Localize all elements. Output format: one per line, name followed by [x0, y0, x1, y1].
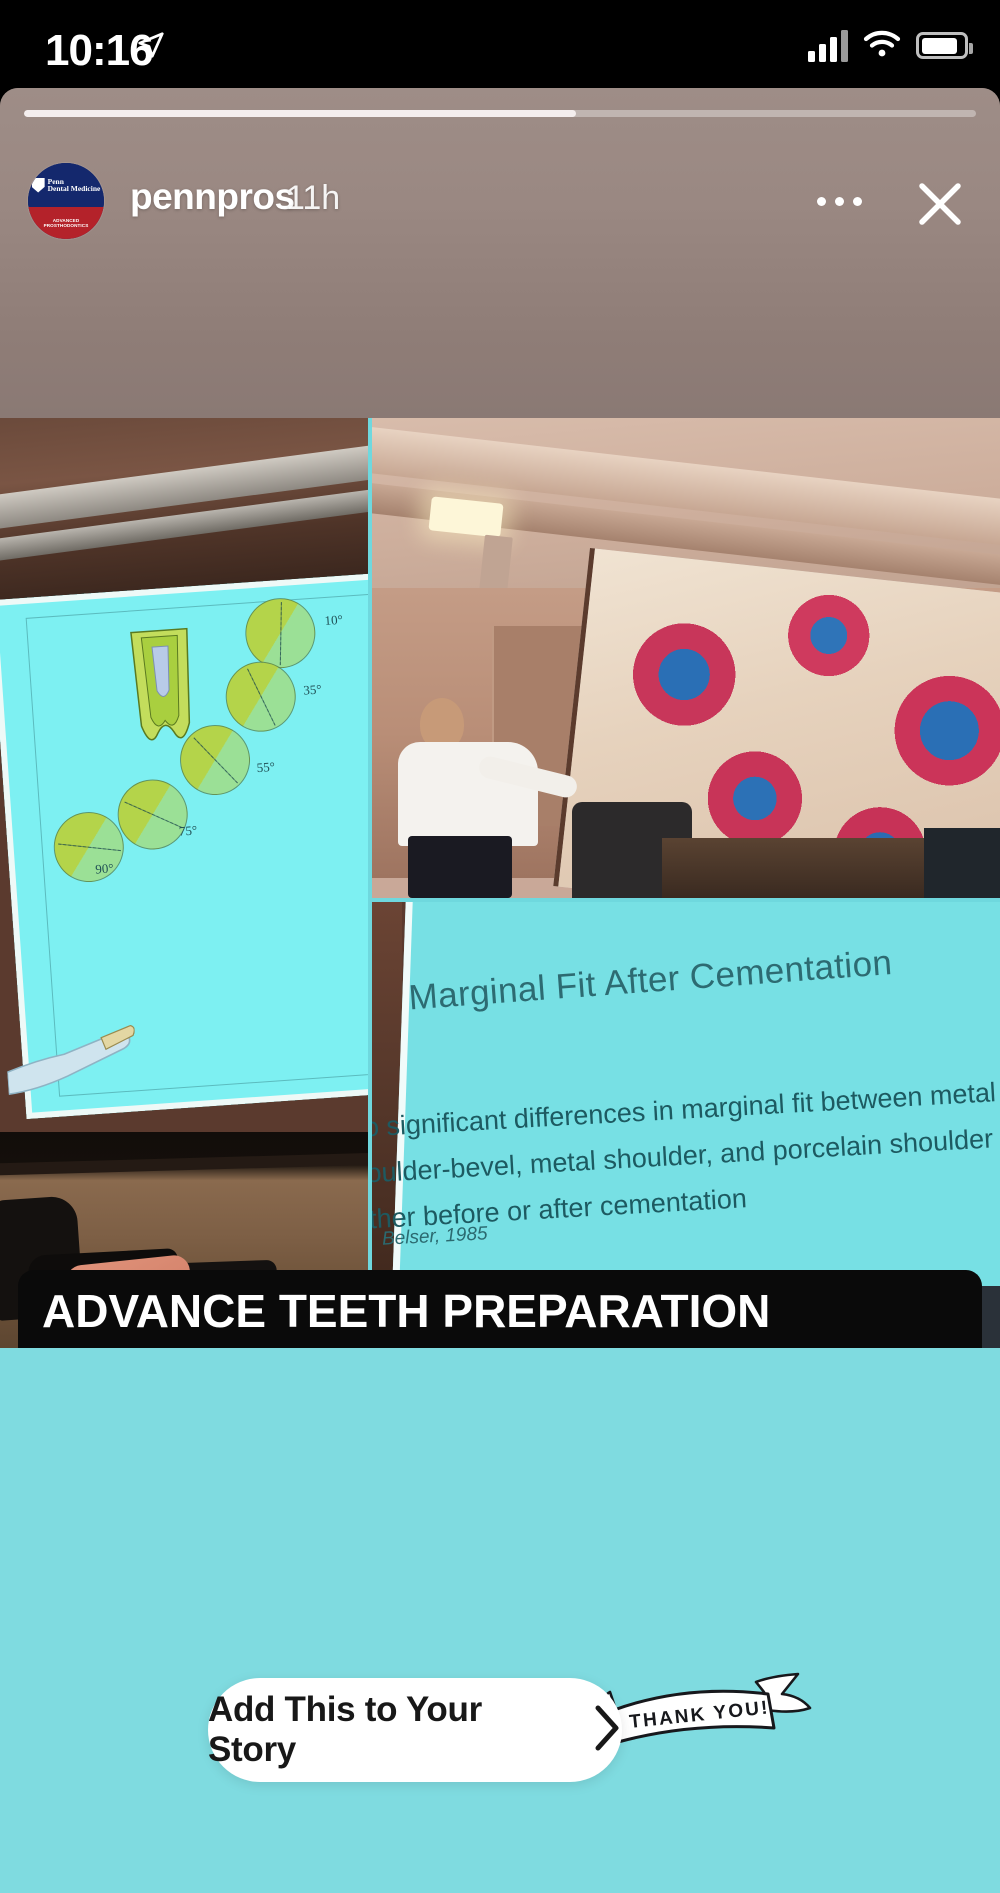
add-story-label: Add This to Your Story [208, 1690, 574, 1770]
location-arrow-icon [136, 30, 166, 65]
story-card[interactable]: Penn Dental Medicine ADVANCED PROSTHODON… [0, 88, 1000, 1893]
photo-collage: 10° 35° 55° 75° 90° rtical marginal gap … [0, 418, 1000, 1348]
angle-label-10: 10° [324, 612, 343, 629]
more-options-icon[interactable] [807, 187, 872, 216]
battery-icon [916, 32, 968, 59]
wall-ledge [0, 1152, 368, 1175]
status-indicators [808, 28, 968, 63]
story-bottom-area: THANK YOU! Add This to Your Story [0, 1348, 1000, 1893]
avatar[interactable]: Penn Dental Medicine ADVANCED PROSTHODON… [28, 163, 104, 239]
story-viewer-screen: 10:16 [0, 0, 1000, 1893]
angle-label-75: 75° [178, 822, 197, 839]
wifi-icon [862, 28, 902, 63]
story-header: Penn Dental Medicine ADVANCED PROSTHODON… [0, 140, 1000, 250]
ios-status-bar: 10:16 [0, 0, 1000, 96]
avatar-wordmark-line2: Dental Medicine [48, 184, 101, 193]
thank-you-ribbon-sticker: THANK YOU! [596, 1666, 826, 1762]
chevron-right-icon [592, 1704, 622, 1757]
presenter-figure [402, 688, 592, 898]
story-progress-bar [24, 110, 976, 117]
avatar-logo: Penn Dental Medicine [28, 163, 104, 207]
add-to-your-story-button[interactable]: Add This to Your Story [208, 1678, 622, 1782]
angle-label-55: 55° [256, 759, 275, 776]
angle-label-90: 90° [95, 860, 114, 877]
avatar-wordmark: Penn Dental Medicine [48, 178, 101, 193]
projection-screen: 10° 35° 55° 75° 90° [0, 573, 368, 1119]
story-progress-fill [24, 110, 576, 117]
story-top-background [0, 88, 1000, 418]
penn-shield-icon [32, 178, 45, 193]
presenter-trousers [408, 836, 512, 898]
story-timestamp: 11h [286, 179, 340, 218]
avatar-banner-line2: PROSTHODONTICS [44, 223, 89, 228]
presenter-pointing-at-screen-photo [372, 418, 1000, 898]
dark-corner [924, 828, 1000, 898]
presenter-shirt [398, 742, 538, 846]
avatar-banner: ADVANCED PROSTHODONTICS [28, 207, 104, 239]
signal-bars-icon [808, 30, 848, 62]
angle-label-35: 35° [303, 681, 322, 698]
presenter-hand-pointer [3, 1005, 139, 1100]
story-username[interactable]: pennpros [130, 176, 295, 218]
wall-speaker [479, 535, 513, 594]
lecture-slide-taper-angles-photo: 10° 35° 55° 75° 90° rtical marginal gap … [0, 418, 368, 1352]
close-icon[interactable] [906, 170, 974, 238]
